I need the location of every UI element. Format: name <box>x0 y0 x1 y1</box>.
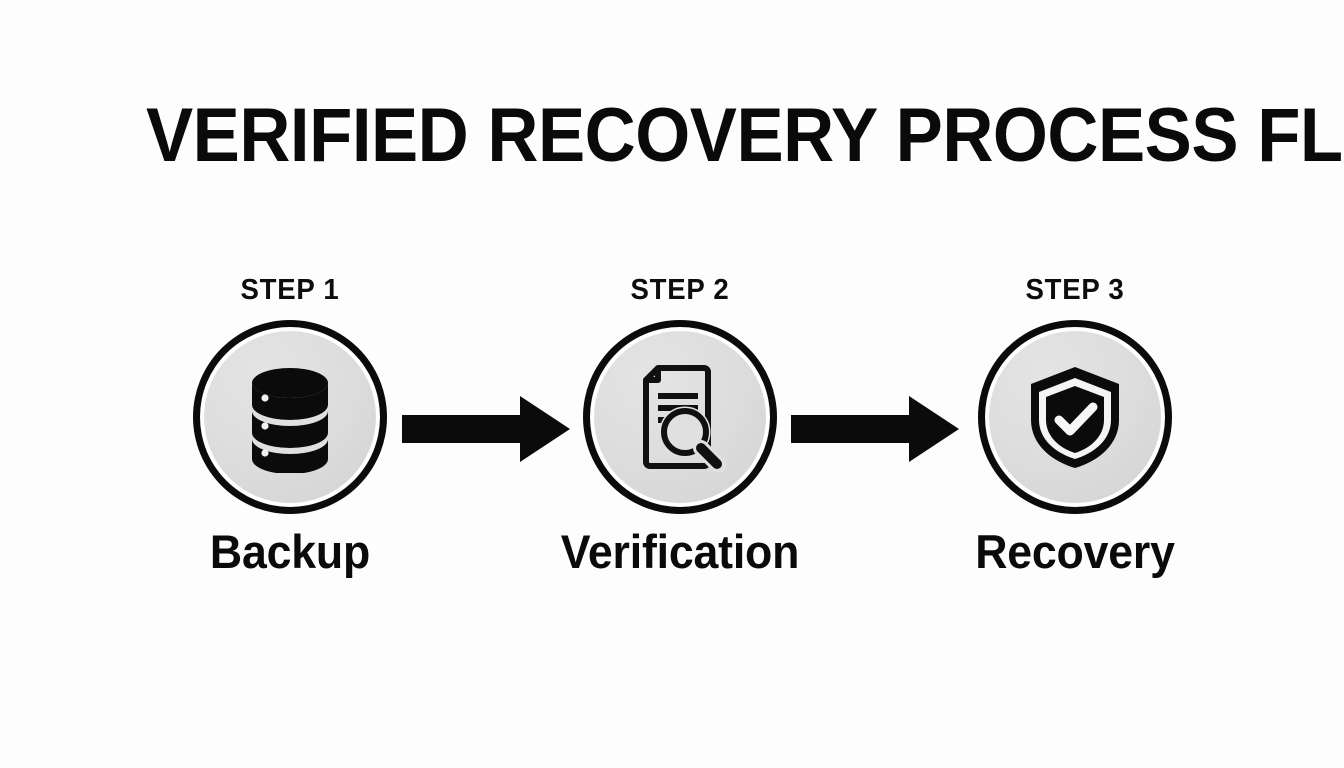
step-label-2: Verification <box>552 524 809 579</box>
shield-check-icon <box>1023 362 1127 472</box>
step-node-verification[interactable]: STEP 2 <box>545 262 815 592</box>
step-kicker-3: STEP 3 <box>947 274 1204 307</box>
step-kicker-2: STEP 2 <box>552 274 809 307</box>
step-circle-gap-3 <box>985 327 1165 507</box>
step-circle-fill-3 <box>989 331 1161 503</box>
step-label-1: Backup <box>162 524 419 579</box>
step-circle-3[interactable] <box>978 320 1172 514</box>
step-circle-fill-1 <box>204 331 376 503</box>
step-circle-gap-2 <box>590 327 770 507</box>
step-circle-fill-2 <box>594 331 766 503</box>
page-title: VERIFIED RECOVERY PROCESS FLOW <box>146 96 1132 176</box>
step-kicker-1: STEP 1 <box>162 274 419 307</box>
diagram-canvas: VERIFIED RECOVERY PROCESS FLOW STEP 1 <box>0 0 1344 768</box>
process-flow-row: STEP 1 <box>0 262 1344 592</box>
step-circle-2[interactable] <box>583 320 777 514</box>
arrow-right-icon <box>791 394 959 464</box>
flow-connector-2 <box>791 394 959 464</box>
step-label-3: Recovery <box>947 524 1204 579</box>
step-circle-1[interactable] <box>193 320 387 514</box>
step-node-recovery[interactable]: STEP 3 <box>940 262 1210 592</box>
step-circle-gap-1 <box>200 327 380 507</box>
step-node-backup[interactable]: STEP 1 <box>155 262 425 592</box>
database-icon <box>238 361 342 473</box>
document-search-icon <box>628 362 732 472</box>
